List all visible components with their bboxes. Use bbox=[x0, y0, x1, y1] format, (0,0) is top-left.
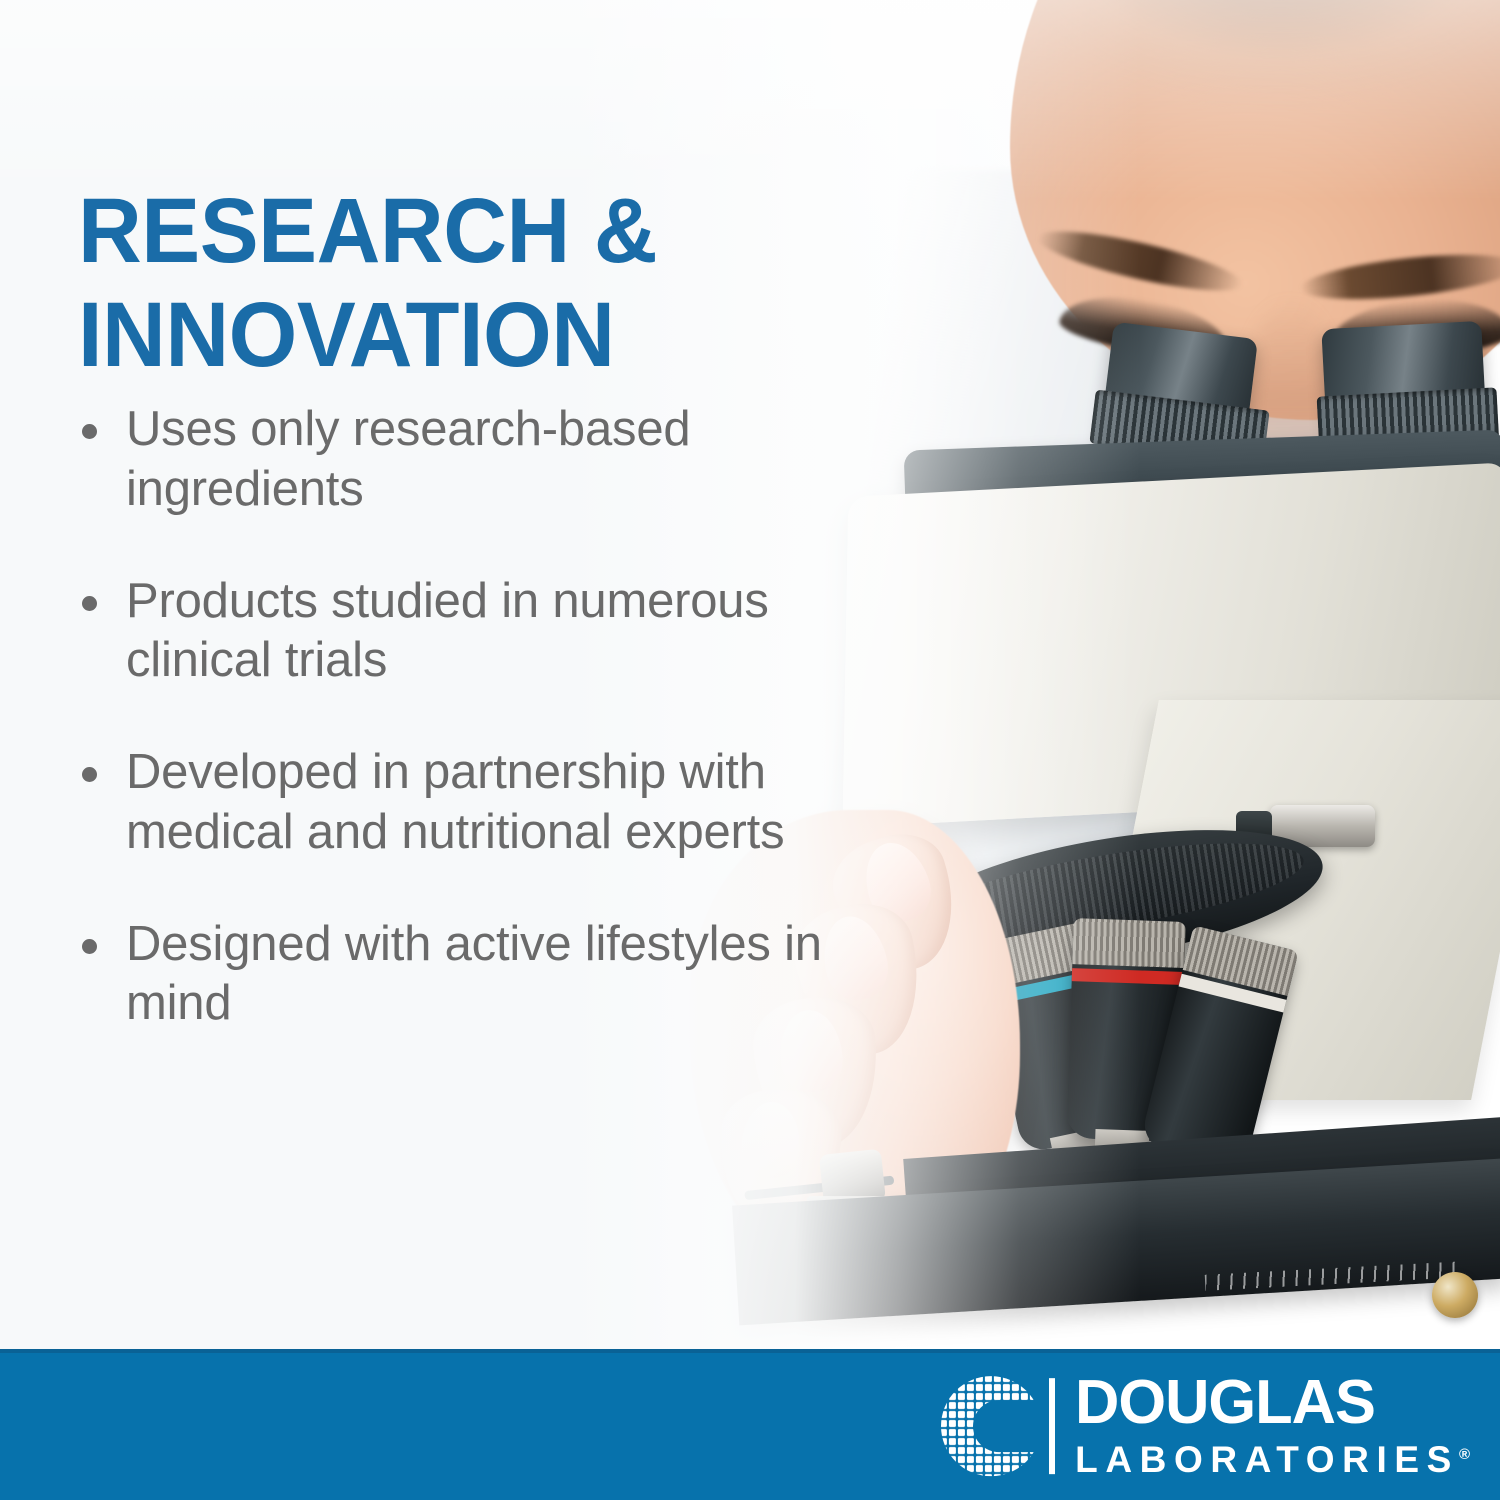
logo-brand-subtitle: LABORATORIES® bbox=[1075, 1440, 1470, 1480]
list-item-label: Products studied in numerous clinical tr… bbox=[126, 574, 769, 688]
bullet-dot-icon bbox=[82, 596, 97, 611]
logo-brand-name: DOUGLAS bbox=[1075, 1373, 1466, 1434]
registered-trademark-icon: ® bbox=[1459, 1446, 1470, 1463]
list-item-label: Developed in partnership with medical an… bbox=[126, 745, 784, 859]
bullet-dot-icon bbox=[82, 767, 97, 782]
list-item: Developed in partnership with medical an… bbox=[78, 743, 868, 863]
promo-card: RESEARCH & INNOVATION Uses only research… bbox=[0, 0, 1500, 1500]
page-title: RESEARCH & INNOVATION bbox=[78, 180, 808, 388]
logo-wordmark: DOUGLAS LABORATORIES® bbox=[1075, 1373, 1470, 1481]
logo-divider bbox=[1049, 1378, 1055, 1474]
list-item-label: Uses only research-based ingredients bbox=[126, 402, 690, 516]
list-item: Designed with active lifestyles in mind bbox=[78, 915, 868, 1035]
feature-list: Uses only research-based ingredients Pro… bbox=[78, 400, 868, 1034]
list-item-label: Designed with active lifestyles in mind bbox=[126, 917, 822, 1031]
headline-line-1: RESEARCH & bbox=[78, 180, 657, 282]
headline-line-2: INNOVATION bbox=[78, 284, 808, 388]
douglas-grid-disc-icon bbox=[939, 1374, 1043, 1478]
bullet-dot-icon bbox=[82, 424, 97, 439]
brand-footer: DOUGLAS LABORATORIES® bbox=[0, 1349, 1500, 1500]
bullet-dot-icon bbox=[82, 939, 97, 954]
logo-brand-subtitle-text: LABORATORIES bbox=[1075, 1439, 1459, 1480]
photo-top-fade bbox=[0, 0, 1500, 200]
list-item: Products studied in numerous clinical tr… bbox=[78, 572, 868, 692]
douglas-laboratories-logo: DOUGLAS LABORATORIES® bbox=[939, 1373, 1470, 1481]
list-item: Uses only research-based ingredients bbox=[78, 400, 868, 520]
